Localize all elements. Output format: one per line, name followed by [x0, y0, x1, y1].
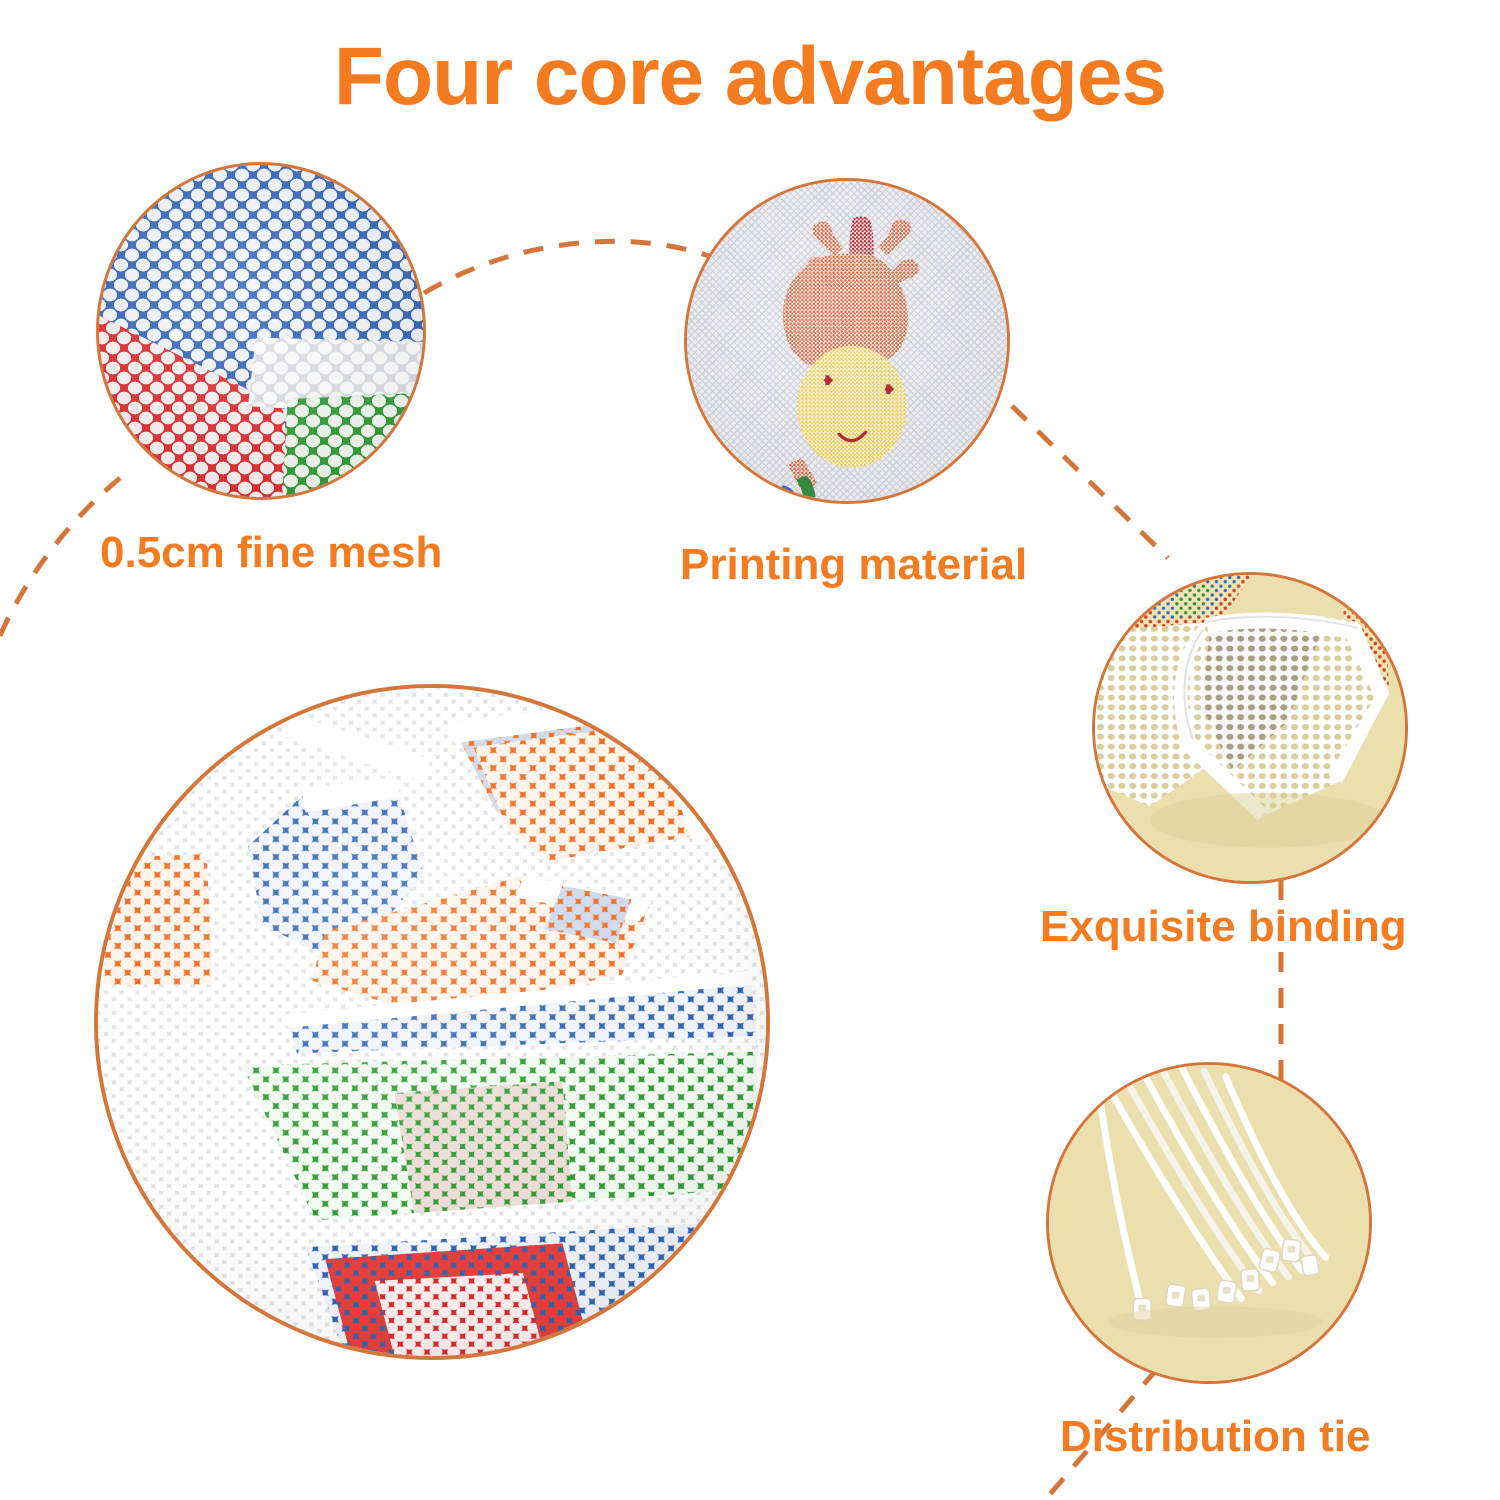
advantage-photo-distribution-tie: [1046, 1062, 1372, 1384]
hero-photo-mesh-bags: [94, 684, 770, 1360]
advantage-label-printing-material: Printing material: [680, 540, 1027, 590]
advantage-label-distribution-tie: Distribution tie: [1060, 1412, 1370, 1462]
advantage-photo-printing-material: [684, 178, 1010, 504]
advantage-photo-exquisite-binding: [1092, 572, 1408, 884]
connector-printing-to-binding: [1012, 406, 1168, 558]
connector-fine-mesh-to-printing: [424, 241, 720, 293]
advantage-label-exquisite-binding: Exquisite binding: [1040, 902, 1407, 952]
bound-edge-illustration: [1095, 575, 1405, 881]
advantage-photo-fine-mesh: [96, 162, 426, 500]
advantage-label-fine-mesh: 0.5cm fine mesh: [100, 528, 442, 578]
zip-ties-illustration: [1049, 1065, 1369, 1381]
infographic-canvas: Four core advantages: [0, 0, 1500, 1500]
page-title: Four core advantages: [0, 34, 1500, 120]
